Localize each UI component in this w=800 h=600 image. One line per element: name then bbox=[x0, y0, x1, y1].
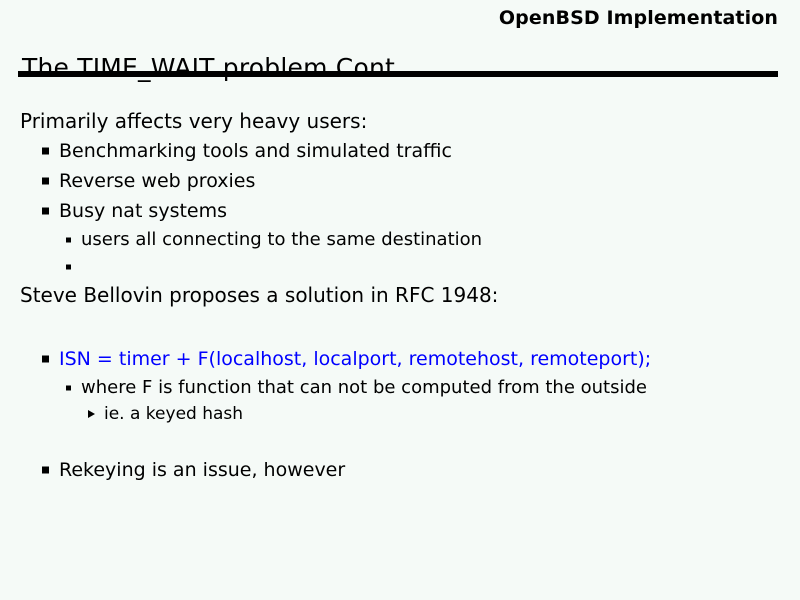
bullet-item-level2: where F is function that can not be comp… bbox=[0, 374, 800, 401]
body-paragraph: Steve Bellovin proposes a solution in RF… bbox=[0, 280, 800, 310]
bullet-item-label: users all connecting to the same destina… bbox=[81, 231, 482, 249]
bullet-item-level1-accent: ISN = timer + F(localhost, localport, re… bbox=[0, 344, 800, 374]
square-bullet-icon bbox=[42, 356, 49, 363]
bullet-item-level3: ie. a keyed hash bbox=[0, 401, 800, 427]
body-paragraph-text: Primarily affects very heavy users: bbox=[20, 111, 367, 131]
bullet-item-label: Benchmarking tools and simulated traffic bbox=[59, 142, 452, 161]
bullet-item-label: Reverse web proxies bbox=[59, 172, 255, 191]
square-bullet-icon bbox=[42, 178, 49, 185]
small-square-bullet-icon bbox=[66, 264, 71, 269]
bullet-item-label: ie. a keyed hash bbox=[104, 406, 243, 423]
slide-body: Primarily affects very heavy users: Benc… bbox=[0, 106, 800, 485]
body-paragraph: Primarily affects very heavy users: bbox=[0, 106, 800, 136]
bullet-item-level1: Rekeying is an issue, however bbox=[0, 455, 800, 485]
vertical-spacer bbox=[0, 427, 800, 455]
presentation-slide: OpenBSD Implementation The TIME_WAIT pro… bbox=[0, 0, 800, 600]
square-bullet-icon bbox=[42, 208, 49, 215]
isn-formula-label: ISN = timer + F(localhost, localport, re… bbox=[59, 350, 651, 369]
slide-header-label: OpenBSD Implementation bbox=[499, 7, 778, 29]
bullet-item-label: Rekeying is an issue, however bbox=[59, 461, 345, 480]
square-bullet-icon bbox=[42, 467, 49, 474]
bullet-item-level2-empty bbox=[0, 253, 800, 280]
small-square-bullet-icon bbox=[66, 237, 71, 242]
square-bullet-icon bbox=[42, 148, 49, 155]
triangle-bullet-icon bbox=[88, 410, 95, 418]
bullet-item-label: Busy nat systems bbox=[59, 202, 227, 221]
small-square-bullet-icon bbox=[66, 385, 71, 390]
body-paragraph-text: Steve Bellovin proposes a solution in RF… bbox=[20, 285, 498, 305]
slide-title: The TIME_WAIT problem Cont. bbox=[22, 53, 403, 82]
bullet-item-level1: Busy nat systems bbox=[0, 196, 800, 226]
vertical-spacer bbox=[0, 310, 800, 344]
bullet-item-level2: users all connecting to the same destina… bbox=[0, 226, 800, 253]
bullet-item-label: where F is function that can not be comp… bbox=[81, 379, 647, 397]
bullet-item-level1: Reverse web proxies bbox=[0, 166, 800, 196]
title-divider-rule bbox=[18, 71, 778, 77]
bullet-item-level1: Benchmarking tools and simulated traffic bbox=[0, 136, 800, 166]
